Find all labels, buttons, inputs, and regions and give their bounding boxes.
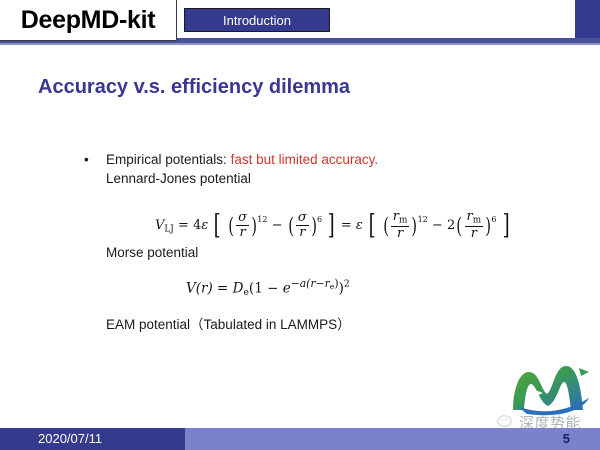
morse-exponent: −a(r−re) [291,277,339,290]
brand-logo-box: DeepMD-kit [0,0,177,41]
lj-exponent-4: 6 [491,215,496,224]
lj-epsilon-1: ε [201,218,208,233]
morse-exponent-power: −a(r−r [291,277,330,290]
formula-lennard-jones: VLJ = 4ε [ (σr)12 − (σr)6 ] = ε [ (rmr)1… [155,210,511,241]
section-tab-introduction[interactable]: Introduction [184,8,330,32]
bullet-lead-text: Empirical potentials: [106,152,231,167]
footer-date: 2020/07/11 [38,431,102,446]
lj-bracket-close-1: ] [328,210,335,241]
lj-frac4-numerator-sub: m [473,215,481,225]
wechat-eye-right [505,419,507,421]
lj-paren-close-3: ) [412,213,418,238]
footer-page-number: 5 [563,431,570,446]
lj-lhs-var: V [155,218,164,233]
lj-paren-open-4: ( [457,213,463,238]
morse-open-paren: (1 [249,280,263,296]
label-eam-potential: EAM potential（Tabulated in LAMMPS） [106,313,351,333]
lj-fraction-4: rmr [465,210,484,241]
morse-power-two: 2 [344,279,350,290]
morse-equals: = [217,280,228,296]
morse-minus: − [267,280,278,296]
formula-morse: V(r) = De(1 − e−a(r−re))2 [186,277,350,298]
morse-exp-base: e [283,280,291,296]
wechat-body [498,416,511,427]
lj-frac3-denominator: r [391,227,410,241]
bullet-text: Empirical potentials: fast but limited a… [106,150,504,188]
bullet-marker: • [84,150,89,169]
lj-equals-2: = [341,218,352,233]
lj-frac1-numerator: σ [236,211,249,226]
header-accent-block [575,0,600,40]
bullet-highlight-text: fast but limited accuracy. [231,152,379,167]
lj-epsilon-2: ε [356,218,363,233]
lj-fraction-3: rmr [391,210,410,241]
morse-lhs: V(r) [186,280,213,296]
watermark-logo: 深度势能 [497,360,597,432]
brand-title: DeepMD-kit [21,6,156,35]
lj-frac4-denominator: r [465,227,484,241]
lj-frac2-denominator: r [296,226,309,240]
lj-exponent-3: 12 [418,215,428,224]
lj-frac4-numerator-wrap: rm [465,210,484,227]
slide: DeepMD-kit Introduction Accuracy v.s. ef… [0,0,600,450]
bullet-item-empirical: • Empirical potentials: fast but limited… [84,150,504,188]
lj-frac1-denominator: r [236,226,249,240]
lj-fraction-1: σr [236,211,249,240]
lj-minus-2: − [432,218,443,233]
lj-coefficient-2: 2 [447,218,455,233]
lj-equals-1: = [178,218,189,233]
lj-minus-1: − [272,218,283,233]
lj-paren-close-4: ) [485,213,491,238]
lj-paren-open-2: ( [288,213,294,238]
page-title: Accuracy v.s. efficiency dilemma [38,76,350,99]
lj-frac2-numerator: σ [296,211,309,226]
section-tab-label: Introduction [223,13,291,28]
lj-frac3-numerator-sub: m [399,215,407,225]
lj-bracket-open-2: [ [369,210,376,241]
lj-paren-open-1: ( [228,213,234,238]
lj-fraction-2: σr [296,211,309,240]
lj-paren-close-1: ) [251,213,257,238]
lj-exponent-1: 12 [257,215,267,224]
lj-bracket-close-2: ] [502,210,509,241]
mark-accent-right [579,368,589,376]
lj-lhs-sub: LJ [164,225,173,235]
wechat-eye-left [501,419,503,421]
header-rule-secondary [0,43,600,45]
lj-bracket-open-1: [ [214,210,221,241]
morse-de-var: D [233,280,244,296]
lj-paren-close-2: ) [311,213,317,238]
footer-right-band [185,428,600,450]
mark-path [513,366,583,410]
lj-frac3-numerator-wrap: rm [391,210,410,227]
lj-paren-open-3: ( [383,213,389,238]
slide-footer: 2020/07/11 5 [0,428,600,450]
lj-exponent-2: 6 [317,215,322,224]
label-morse-potential: Morse potential [106,245,198,260]
deep-potential-mark-icon [503,360,595,416]
bullet-second-line-text: Lennard-Jones potential [106,171,251,186]
